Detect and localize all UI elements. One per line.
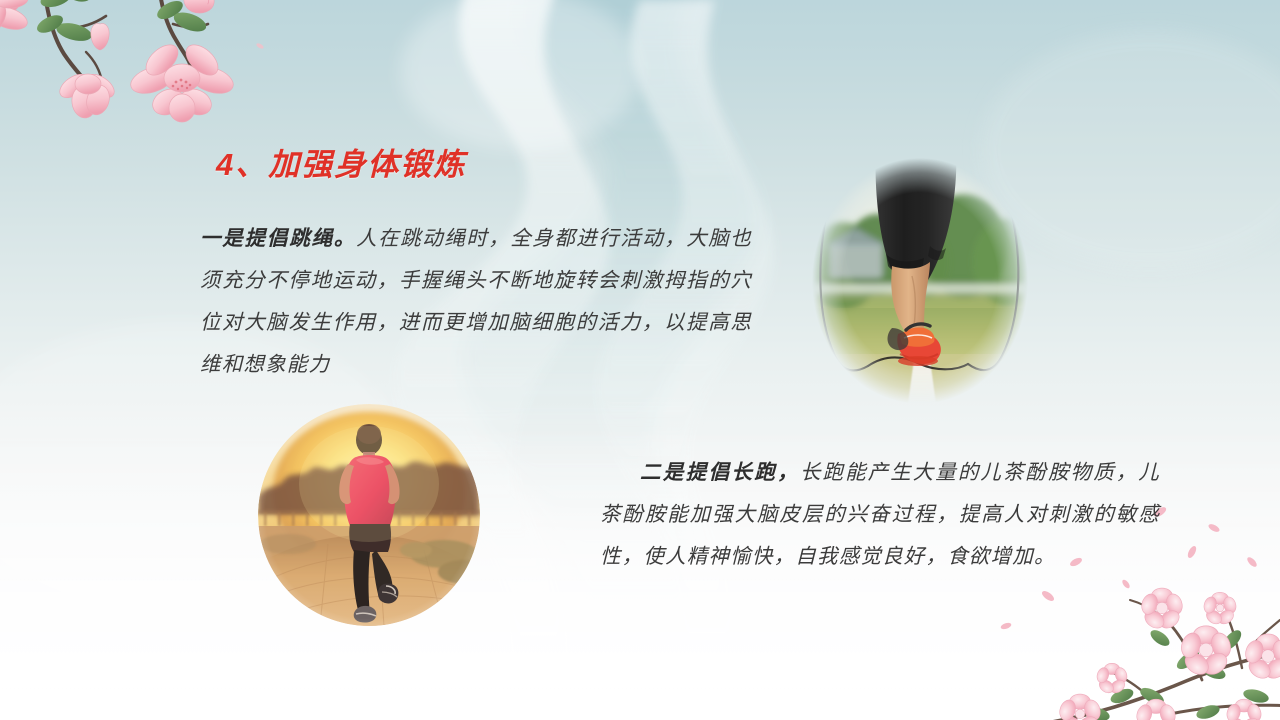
paragraph-jump-rope: 一是提倡跳绳。人在跳动绳时，全身都进行活动，大脑也须充分不停地运动，手握绳头不断… [200, 218, 752, 386]
running-photo [258, 404, 480, 626]
paragraph-long-run-lead: 二是提倡长跑， [640, 461, 800, 484]
paragraph-long-run: 二是提倡长跑，长跑能产生大量的儿茶酚胺物质，儿茶酚胺能加强大脑皮层的兴奋过程，提… [600, 452, 1160, 578]
paragraph-jump-rope-lead: 一是提倡跳绳。 [200, 227, 356, 250]
slide-canvas: 4、加强身体锻炼 [0, 0, 1280, 720]
jump-rope-photo [812, 158, 1028, 404]
page-title: 4、加强身体锻炼 [216, 139, 466, 184]
